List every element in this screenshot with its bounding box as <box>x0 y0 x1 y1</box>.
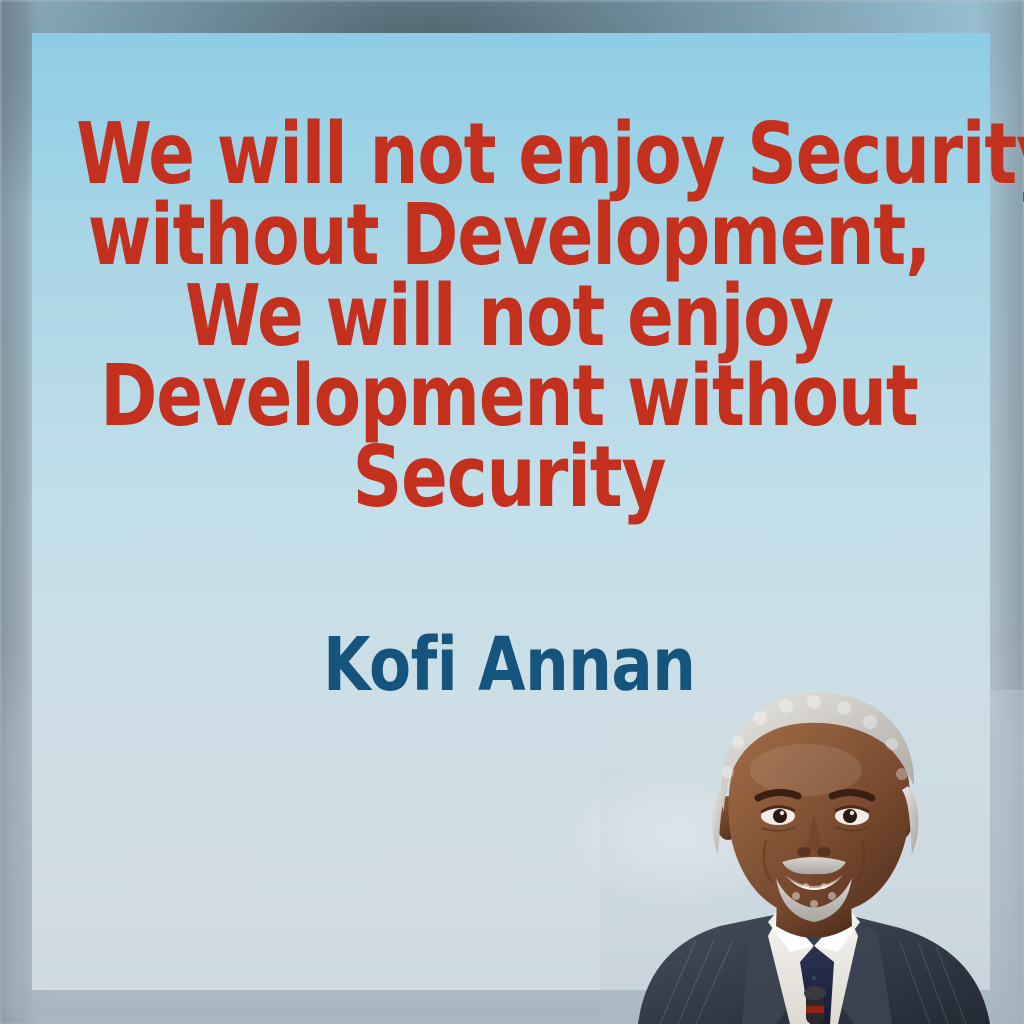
quote-line-4: Development without <box>76 357 942 438</box>
author-name: Kofi Annan <box>323 628 695 702</box>
quote-line-1: We will not enjoy Security <box>76 115 942 196</box>
quote-card: We will not enjoy Security without Devel… <box>0 0 1024 1024</box>
quote-line-5: Security <box>76 438 942 519</box>
panel-light-glare <box>559 760 799 910</box>
quote-text-block: We will not enjoy Security without Devel… <box>28 115 990 519</box>
quote-line-3: We will not enjoy <box>76 277 942 358</box>
quote-line-2: without Development, <box>76 196 942 277</box>
attribution: Kofi Annan <box>28 628 990 702</box>
